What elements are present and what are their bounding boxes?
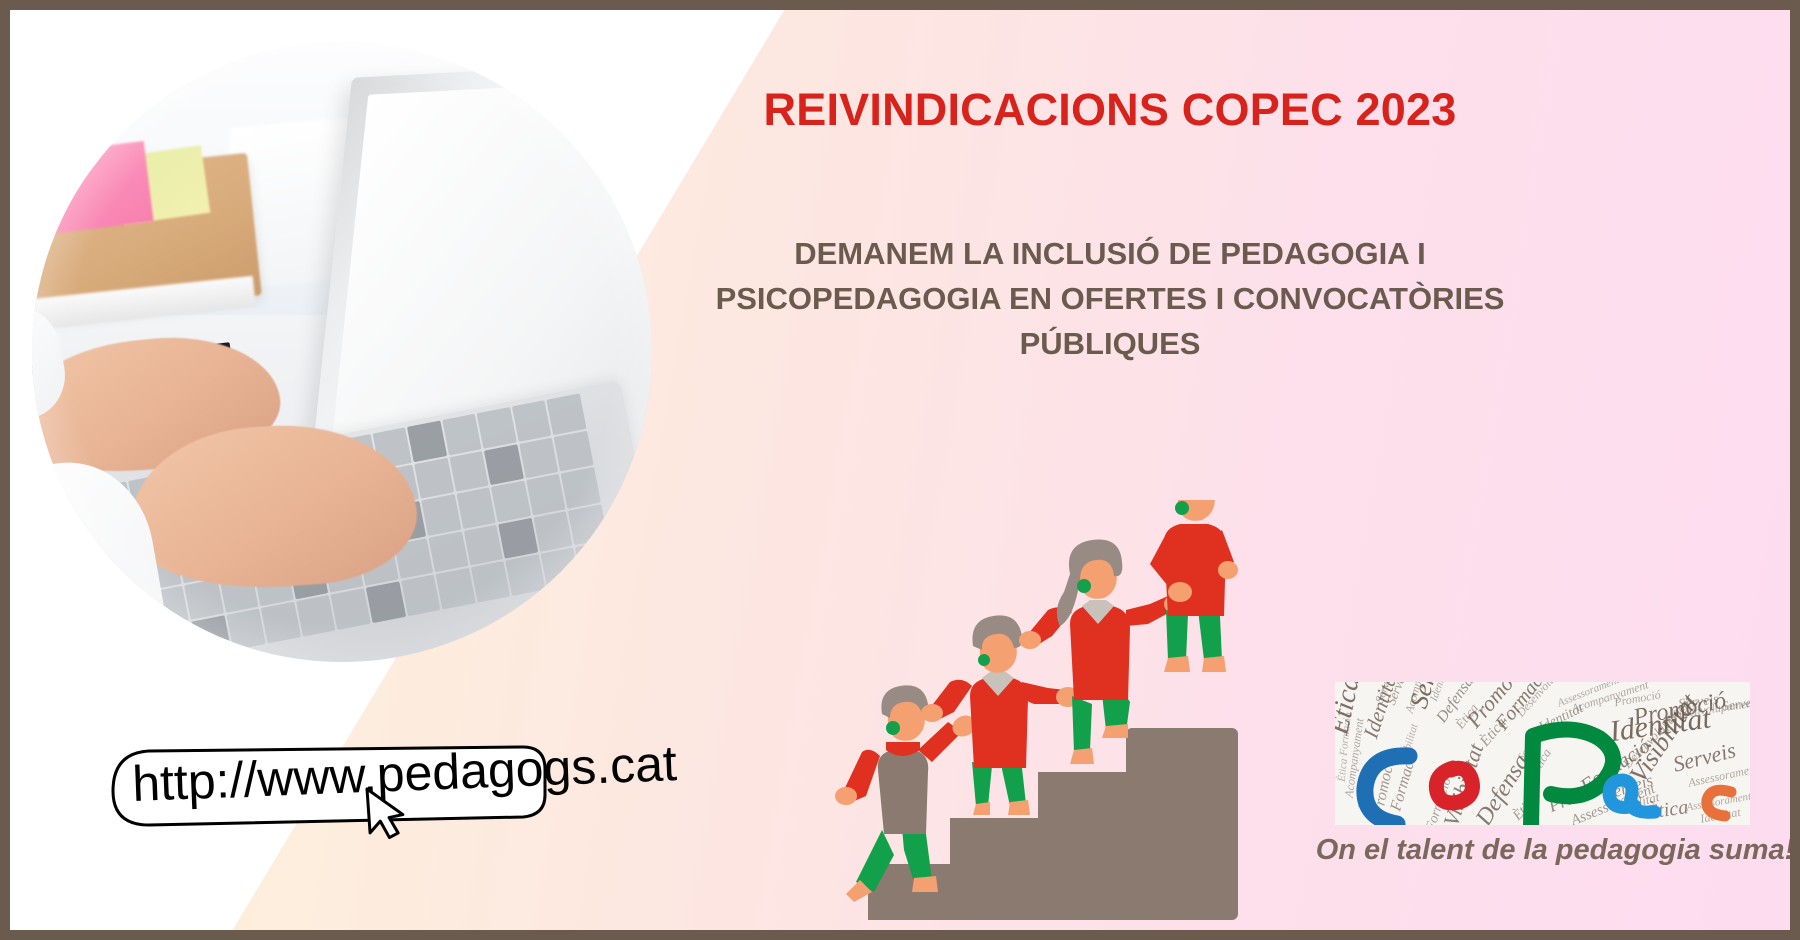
photo-edge-fade [32,42,652,662]
laptop-photo [32,42,652,662]
svg-text:Ètica: Ètica [1336,757,1351,783]
page-title: REIVINDICACIONS COPEC 2023 [710,84,1510,136]
people-climbing-stairs-illustration [830,500,1250,920]
copec-tagline: On el talent de la pedagogia suma! [1315,834,1790,867]
subtitle-line-2: PSICOPEDAGOGIA EN OFERTES I CONVOCATÒRIE… [670,277,1550,322]
subtitle-line-3: PÚBLIQUES [670,322,1550,367]
copec-wordcloud: Ètica Identitat Serveis Serveis Acompany… [1335,682,1750,825]
website-url-badge[interactable]: http://www.pedagogs.cat [105,745,545,830]
copec-logo: Ètica Identitat Serveis Serveis Acompany… [1335,682,1790,882]
poster-root: http://www.pedagogs.cat REIVINDICACIONS … [0,0,1800,940]
laptop-photo-content [32,42,652,662]
subtitle-line-1: DEMANEM LA INCLUSIÓ DE PEDAGOGIA I [670,232,1550,277]
subtitle-block: DEMANEM LA INCLUSIÓ DE PEDAGOGIA I PSICO… [670,232,1550,367]
poster-canvas: http://www.pedagogs.cat REIVINDICACIONS … [10,10,1790,930]
figure-4 [1150,500,1238,672]
